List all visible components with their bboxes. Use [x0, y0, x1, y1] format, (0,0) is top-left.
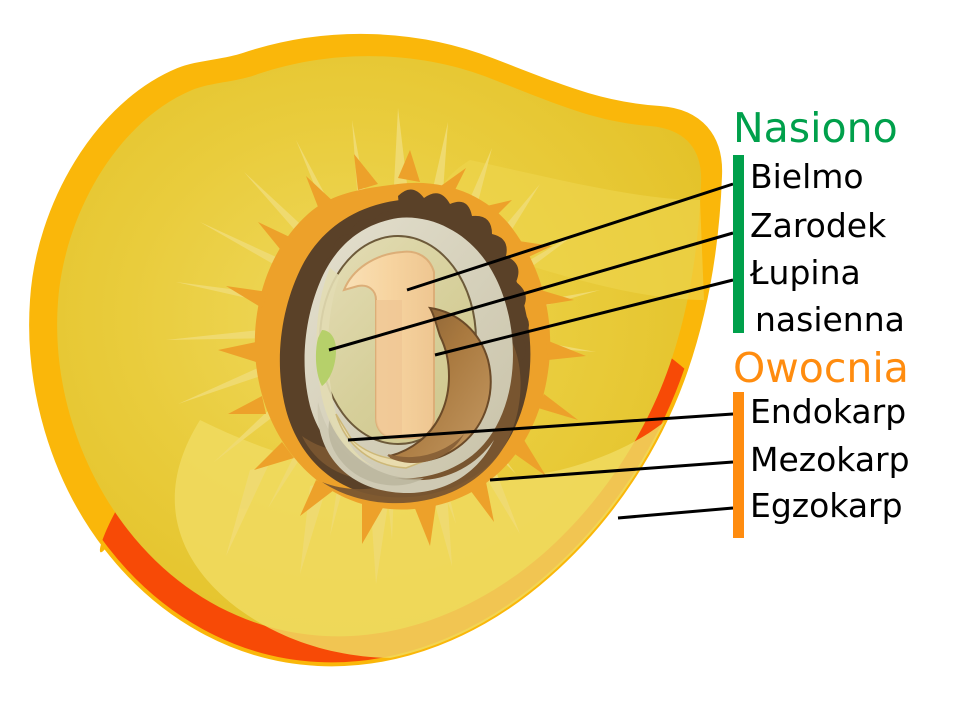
egzokarp-leader	[618, 508, 733, 518]
label-zarodek[interactable]: Zarodek	[750, 209, 886, 242]
label-lupina[interactable]: Łupina	[750, 256, 861, 289]
label-bielmo[interactable]: Bielmo	[750, 160, 864, 193]
group-heading-pericarp: Owocnia	[733, 348, 909, 389]
pericarp-group-bar	[733, 392, 744, 538]
label-nasienna[interactable]: nasienna	[755, 303, 905, 336]
diagram-canvas: Nasiono Bielmo Zarodek Łupina nasienna O…	[0, 0, 960, 717]
group-heading-seed: Nasiono	[733, 108, 898, 149]
label-endokarp[interactable]: Endokarp	[750, 395, 906, 428]
label-mezokarp[interactable]: Mezokarp	[750, 443, 910, 476]
label-egzokarp[interactable]: Egzokarp	[750, 489, 903, 522]
seed-group-bar	[733, 155, 744, 333]
